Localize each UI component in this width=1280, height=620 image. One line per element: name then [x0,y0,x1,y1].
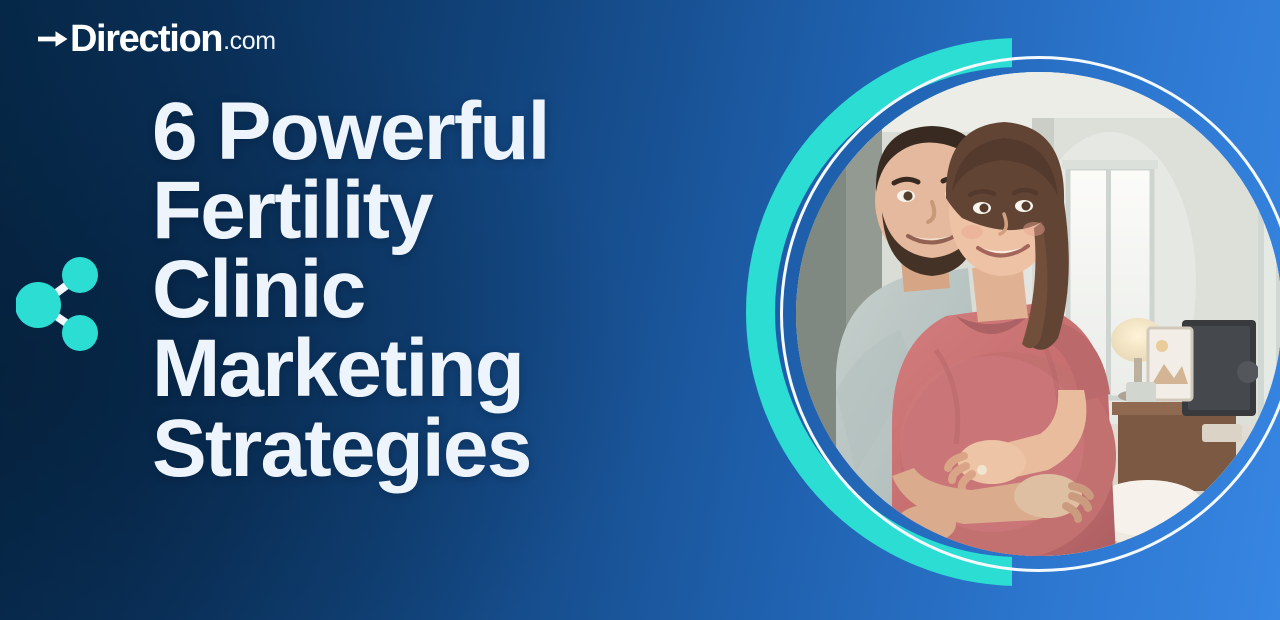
share-node-bottom [62,315,98,351]
headline-line-1: 6 Powerful [152,92,712,171]
share-node-top [62,257,98,293]
headline-line-3: Clinic [152,250,712,329]
logo-tld: .com [223,29,276,54]
logo-name: Direction [70,20,222,58]
share-nodes-icon[interactable] [16,255,102,351]
arrow-right-icon [38,28,68,50]
blog-banner: Direction .com 6 Powerful Fertility Clin… [0,0,1280,620]
hero-graphic [736,18,1280,620]
share-node-main [16,282,61,328]
headline-line-2: Fertility [152,171,712,250]
headline-line-4: Marketing [152,329,712,408]
site-logo[interactable]: Direction .com [38,17,276,61]
page-title: 6 Powerful Fertility Clinic Marketing St… [152,92,712,488]
headline-line-5: Strategies [152,409,712,488]
couple-photo [796,72,1280,556]
couple-photo-illustration [796,72,1280,556]
